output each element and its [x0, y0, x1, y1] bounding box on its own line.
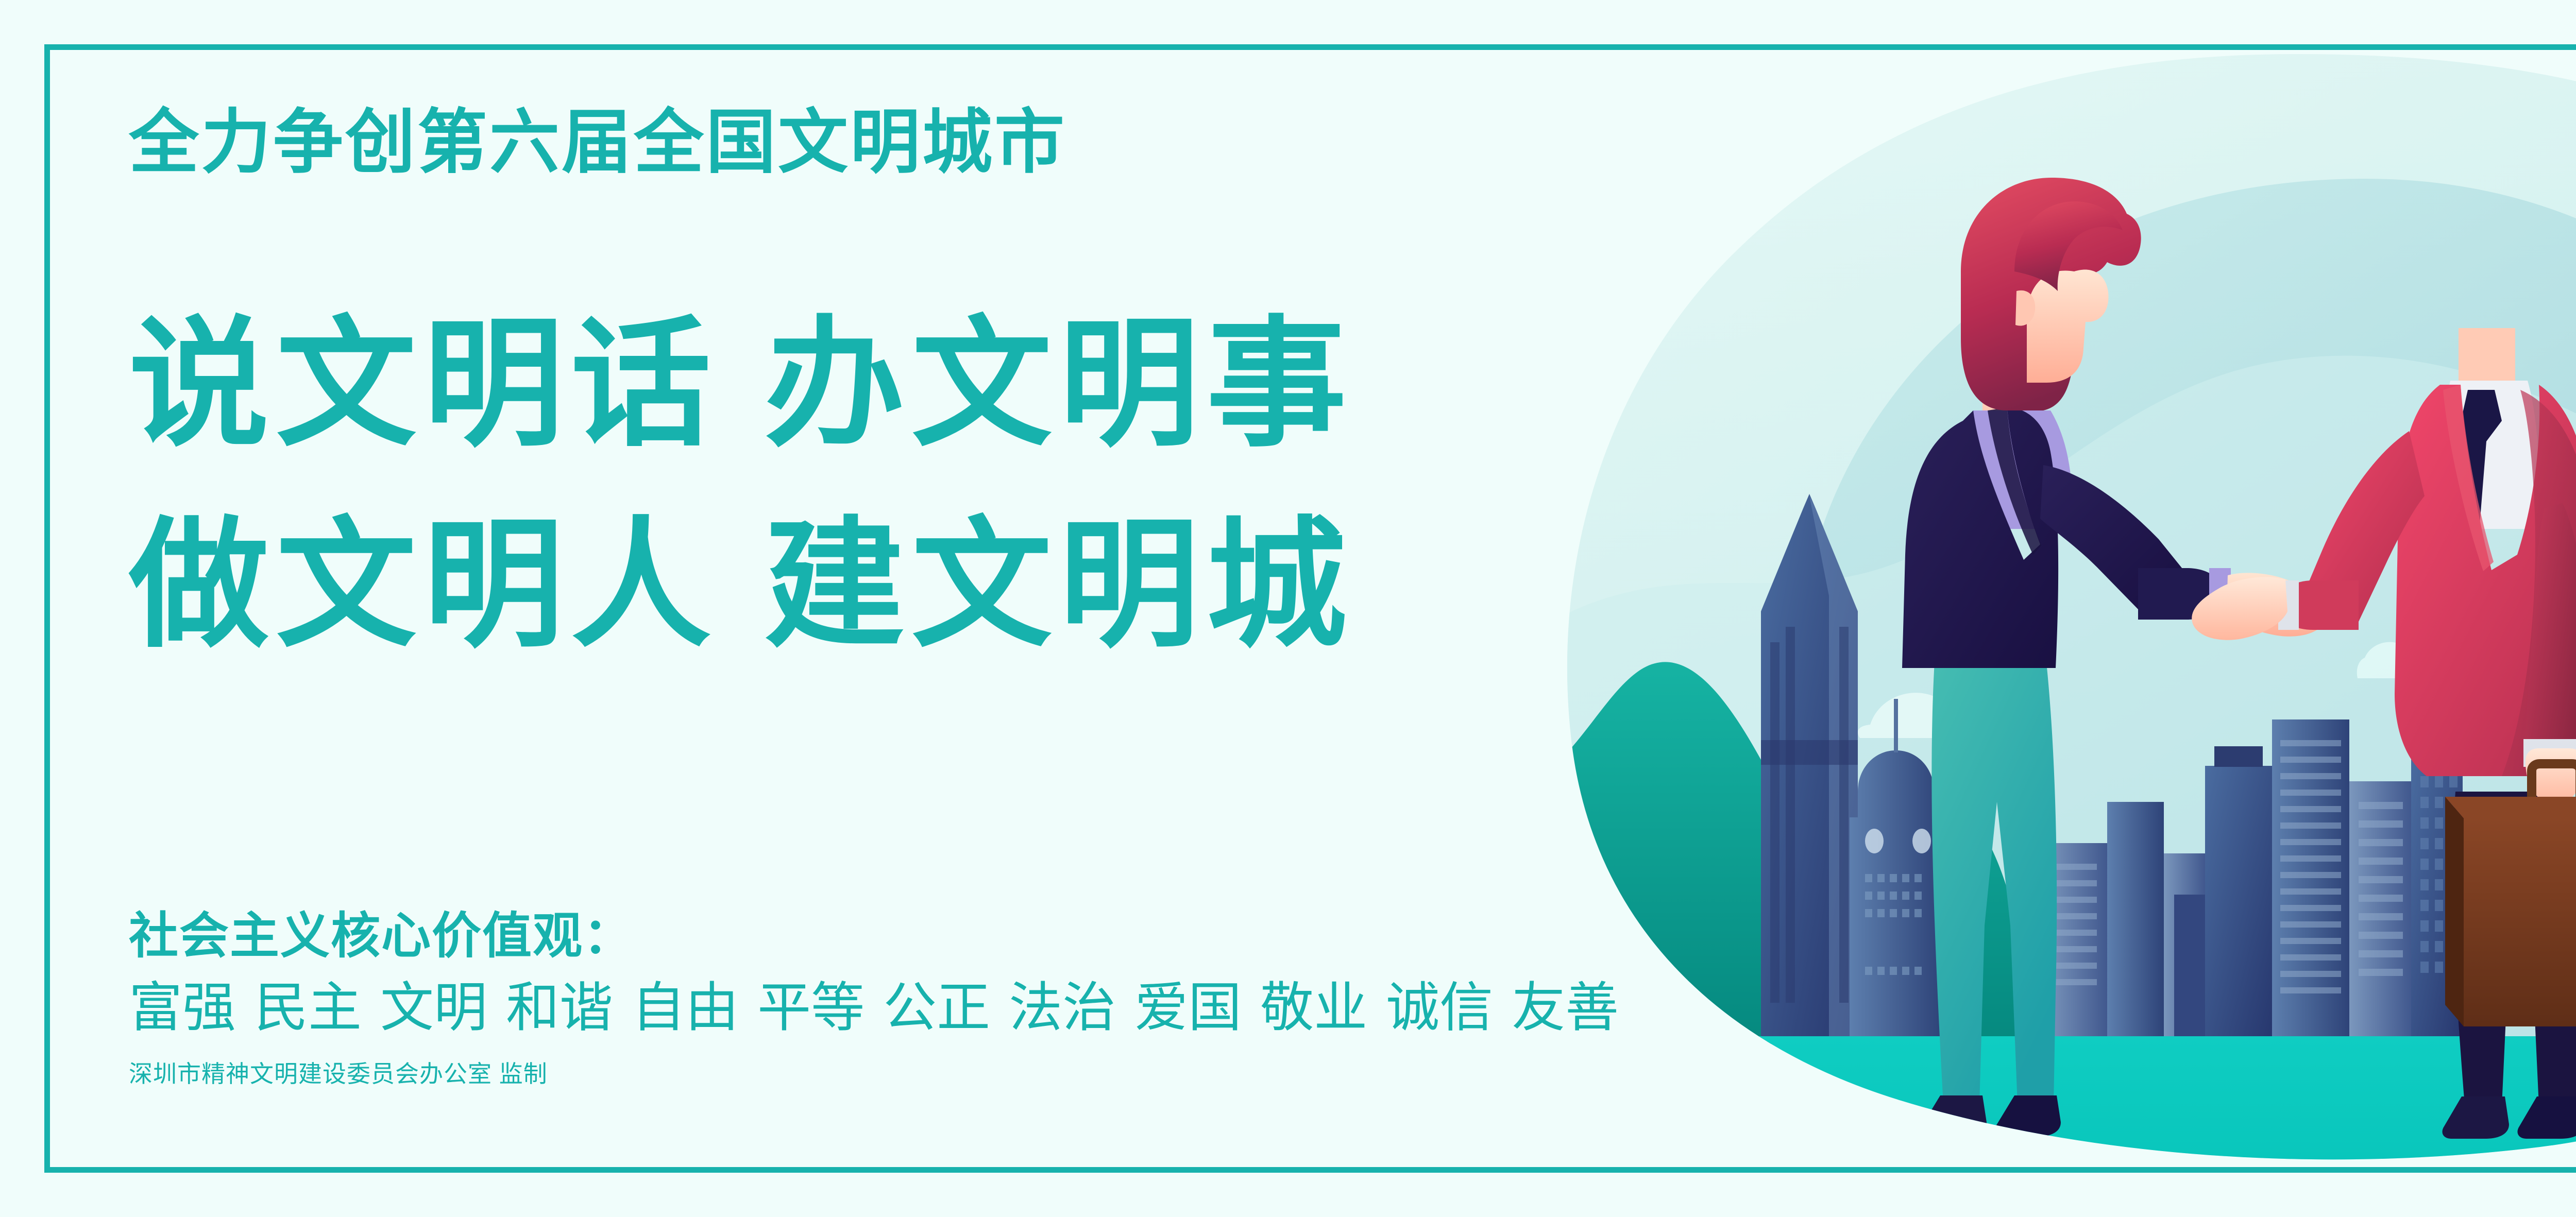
briefcase-body	[2464, 818, 2576, 1026]
building-dome-mast	[1894, 699, 1898, 752]
core-value-item: 平等	[757, 978, 865, 1038]
core-value-item: 公正	[883, 978, 990, 1038]
core-value-item: 法治	[1009, 978, 1116, 1038]
issuer-footnote: 深圳市精神文明建设委员会办公室 监制	[129, 1062, 548, 1086]
core-value-item: 爱国	[1134, 978, 1242, 1038]
briefcase-side	[2445, 797, 2464, 1026]
building-tall-c	[2349, 781, 2411, 1039]
core-value-item: 敬业	[1260, 978, 1367, 1038]
core-values-list: 富强民主文明和谐自由平等公正法治爱国敬业诚信友善	[129, 981, 1619, 1035]
core-value-item: 和谐	[506, 978, 613, 1038]
briefcase-top	[2445, 797, 2576, 818]
slogan-line-2: 做文明人 建文明城	[129, 515, 1354, 655]
briefcase	[2445, 764, 2576, 1026]
text-column: 全力争创第六届全国文明城市 说文明话 办文明事 做文明人 建文明城 社会主义核心…	[129, 0, 1726, 1217]
building-dome-light-l	[1865, 829, 1884, 853]
kicker-headline: 全力争创第六届全国文明城市	[129, 107, 1066, 177]
building-dome-light-r	[1912, 829, 1931, 853]
core-value-item: 友善	[1512, 978, 1619, 1038]
building-mid-b	[2107, 802, 2164, 1039]
core-value-item: 自由	[632, 978, 739, 1038]
core-values-title: 社会主义核心价值观：	[129, 912, 634, 961]
slogan-line-1: 说文明话 办文明事	[129, 314, 1354, 454]
core-value-item: 富强	[129, 978, 236, 1038]
building-tall-a	[2205, 766, 2272, 1039]
building-tall-a-cap	[2214, 746, 2263, 767]
core-value-item: 文明	[380, 978, 487, 1038]
building-spire-band	[1761, 740, 1858, 765]
building-slim-e	[2174, 895, 2205, 1039]
poster-canvas: 全力争创第六届全国文明城市 说文明话 办文明事 做文明人 建文明城 社会主义核心…	[0, 0, 2576, 1217]
core-value-item: 诚信	[1386, 978, 1493, 1038]
core-value-item: 民主	[255, 978, 362, 1038]
